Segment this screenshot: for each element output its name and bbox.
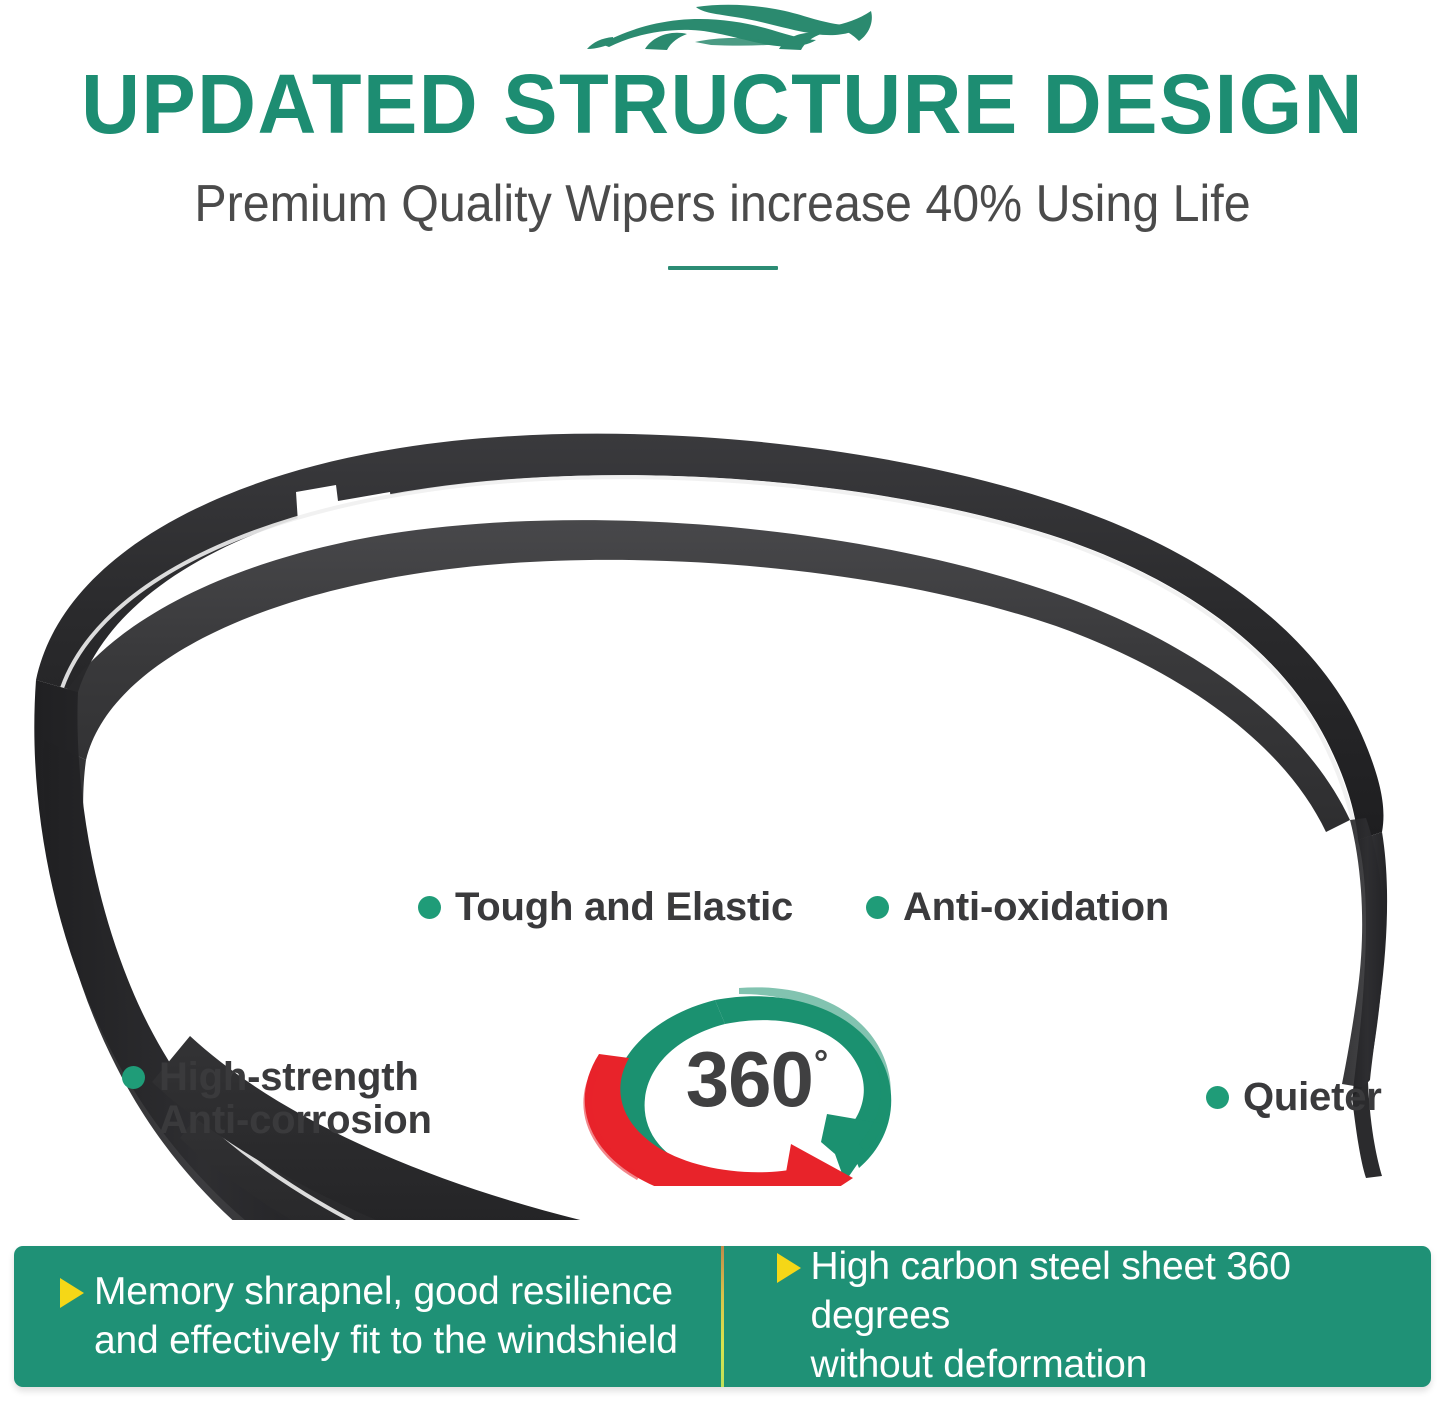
banner-text: Memory shrapnel, good resilience and eff… (94, 1268, 678, 1366)
feature-high-strength-anti-corrosion: High-strength Anti-corrosion (122, 1056, 432, 1142)
bullet-dot-icon (418, 896, 441, 919)
page-title: UPDATED STRUCTURE DESIGN (22, 60, 1424, 148)
feature-label: Tough and Elastic (455, 886, 793, 929)
title-divider (668, 266, 778, 270)
feature-label: Anti-oxidation (903, 886, 1169, 929)
feature-tough-and-elastic: Tough and Elastic (418, 886, 793, 929)
triangle-marker-icon (777, 1253, 801, 1283)
feature-label: High-strength Anti-corrosion (159, 1056, 432, 1142)
triangle-marker-icon (60, 1278, 84, 1308)
badge-360-degree: 360° (563, 972, 919, 1186)
bullet-dot-icon (1206, 1086, 1229, 1109)
bottom-banner: Memory shrapnel, good resilience and eff… (14, 1246, 1431, 1387)
banner-item-high-carbon-steel: High carbon steel sheet 360 degrees with… (723, 1246, 1432, 1387)
feature-anti-oxidation: Anti-oxidation (866, 886, 1169, 929)
feature-label: Quieter (1243, 1076, 1382, 1119)
feature-quieter: Quieter (1206, 1076, 1382, 1119)
banner-item-memory-shrapnel: Memory shrapnel, good resilience and eff… (14, 1246, 723, 1387)
bullet-dot-icon (122, 1066, 145, 1089)
banner-text: High carbon steel sheet 360 degrees with… (811, 1243, 1432, 1389)
header: UPDATED STRUCTURE DESIGN Premium Quality… (0, 0, 1445, 300)
car-silhouette-icon (583, 4, 878, 60)
product-stage: 360° Tough and Elastic Anti-oxidation Hi… (0, 320, 1445, 1220)
page-subtitle: Premium Quality Wipers increase 40% Usin… (51, 176, 1395, 233)
bullet-dot-icon (866, 896, 889, 919)
